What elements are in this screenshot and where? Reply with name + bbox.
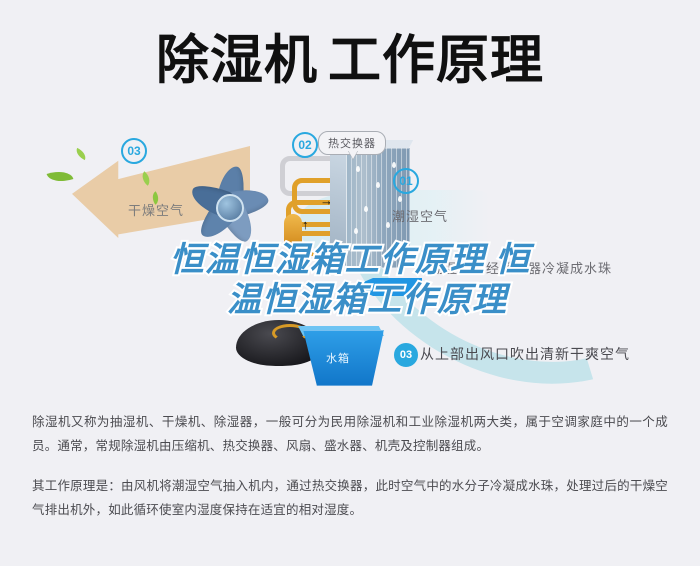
air-inlet-arrow-icon [352,278,422,296]
step-badge-01: 01 [393,168,419,194]
page-title: 除湿机工作原理 [0,0,700,120]
water-droplet-icon [354,228,358,234]
leaf-icon [74,148,88,160]
water-droplet-icon [392,162,396,168]
title-text: 除湿机工作原理 [156,34,544,87]
outlet-note-label: 从上部出风口吹出清新干爽空气 [420,344,630,364]
step-badge-03-outlet: 03 [394,343,418,367]
humid-air-label: 潮湿空气 [392,206,448,225]
paragraph-2: 其工作原理是：由风机将潮湿空气抽入机内，通过热交换器，此时空气中的水分子冷凝成水… [32,474,668,522]
paragraph-1: 除湿机又称为抽湿机、干燥机、除湿器，一般可分为民用除湿机和工业除湿机两大类，属于… [32,410,668,458]
leaf-icon [47,167,74,187]
water-droplet-icon [364,206,368,212]
water-droplet-icon [356,166,360,172]
body-copy: 除湿机又称为抽湿机、干燥机、除湿器，一般可分为民用除湿机和工业除湿机两大类，属于… [0,410,700,538]
title-part-2: 工作原理 [328,31,544,90]
title-part-1: 除湿机 [156,31,318,90]
flow-arrow-icon: ↑ [302,218,309,231]
compressor-icon [284,214,302,248]
water-droplet-icon [376,182,380,188]
fan-hub-icon [216,194,244,222]
fan-icon [178,156,278,250]
water-droplet-icon [370,244,374,250]
condensation-note-label: 潮湿空气经蒸发器冷凝成水珠 [430,258,612,277]
step-badge-02: 02 [292,132,318,158]
callout-tail-icon [348,150,358,159]
infographic-page: 除湿机工作原理 干燥空气 → ↑ [0,0,700,566]
water-tank-label: 水箱 [326,350,350,366]
dehumidifier-diagram: 干燥空气 → ↑ ↓ [0,118,700,398]
water-droplet-icon [386,222,390,228]
water-droplet-icon [398,196,402,202]
step-badge-03-dry-air: 03 [121,138,147,164]
